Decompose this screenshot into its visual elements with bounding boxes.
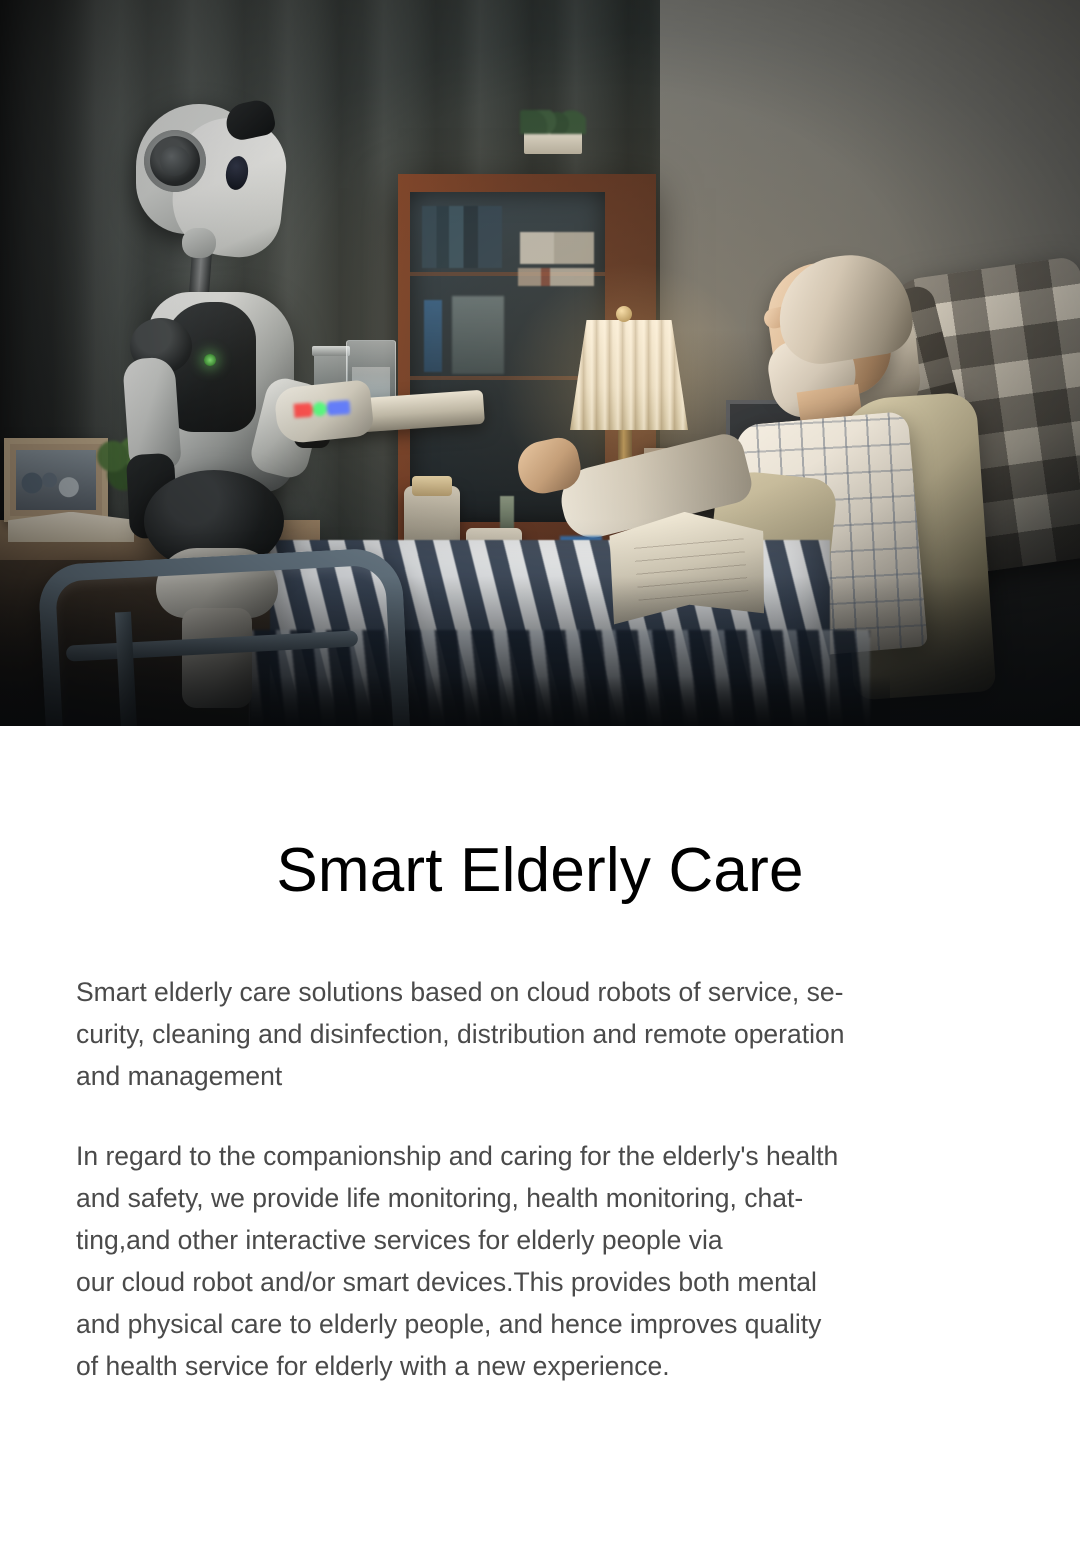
medicine-jar-lid <box>312 346 350 356</box>
lamp-finial <box>616 306 632 322</box>
robot-ear-inner <box>160 146 190 176</box>
page-title: Smart Elderly Care <box>0 726 1080 903</box>
details-paragraph: In regard to the companionship and carin… <box>0 1135 1080 1387</box>
books-row <box>520 232 594 264</box>
bookcase-shelf <box>410 376 605 380</box>
content-section: Smart Elderly Care Smart elderly care so… <box>0 726 1080 1387</box>
table-lamp-shade <box>570 320 688 430</box>
books-row <box>422 206 502 268</box>
potted-plant-top <box>520 110 586 134</box>
photo-print <box>16 450 96 510</box>
intro-paragraph: Smart elderly care solutions based on cl… <box>0 971 1080 1097</box>
glass-vase <box>452 296 504 374</box>
books-row <box>518 268 594 286</box>
robot-neck-joint <box>182 228 216 258</box>
hero-image <box>0 0 1080 726</box>
framed-family-photo-left <box>4 438 108 522</box>
robot-status-led <box>204 354 216 366</box>
book-text-lines <box>634 535 748 600</box>
